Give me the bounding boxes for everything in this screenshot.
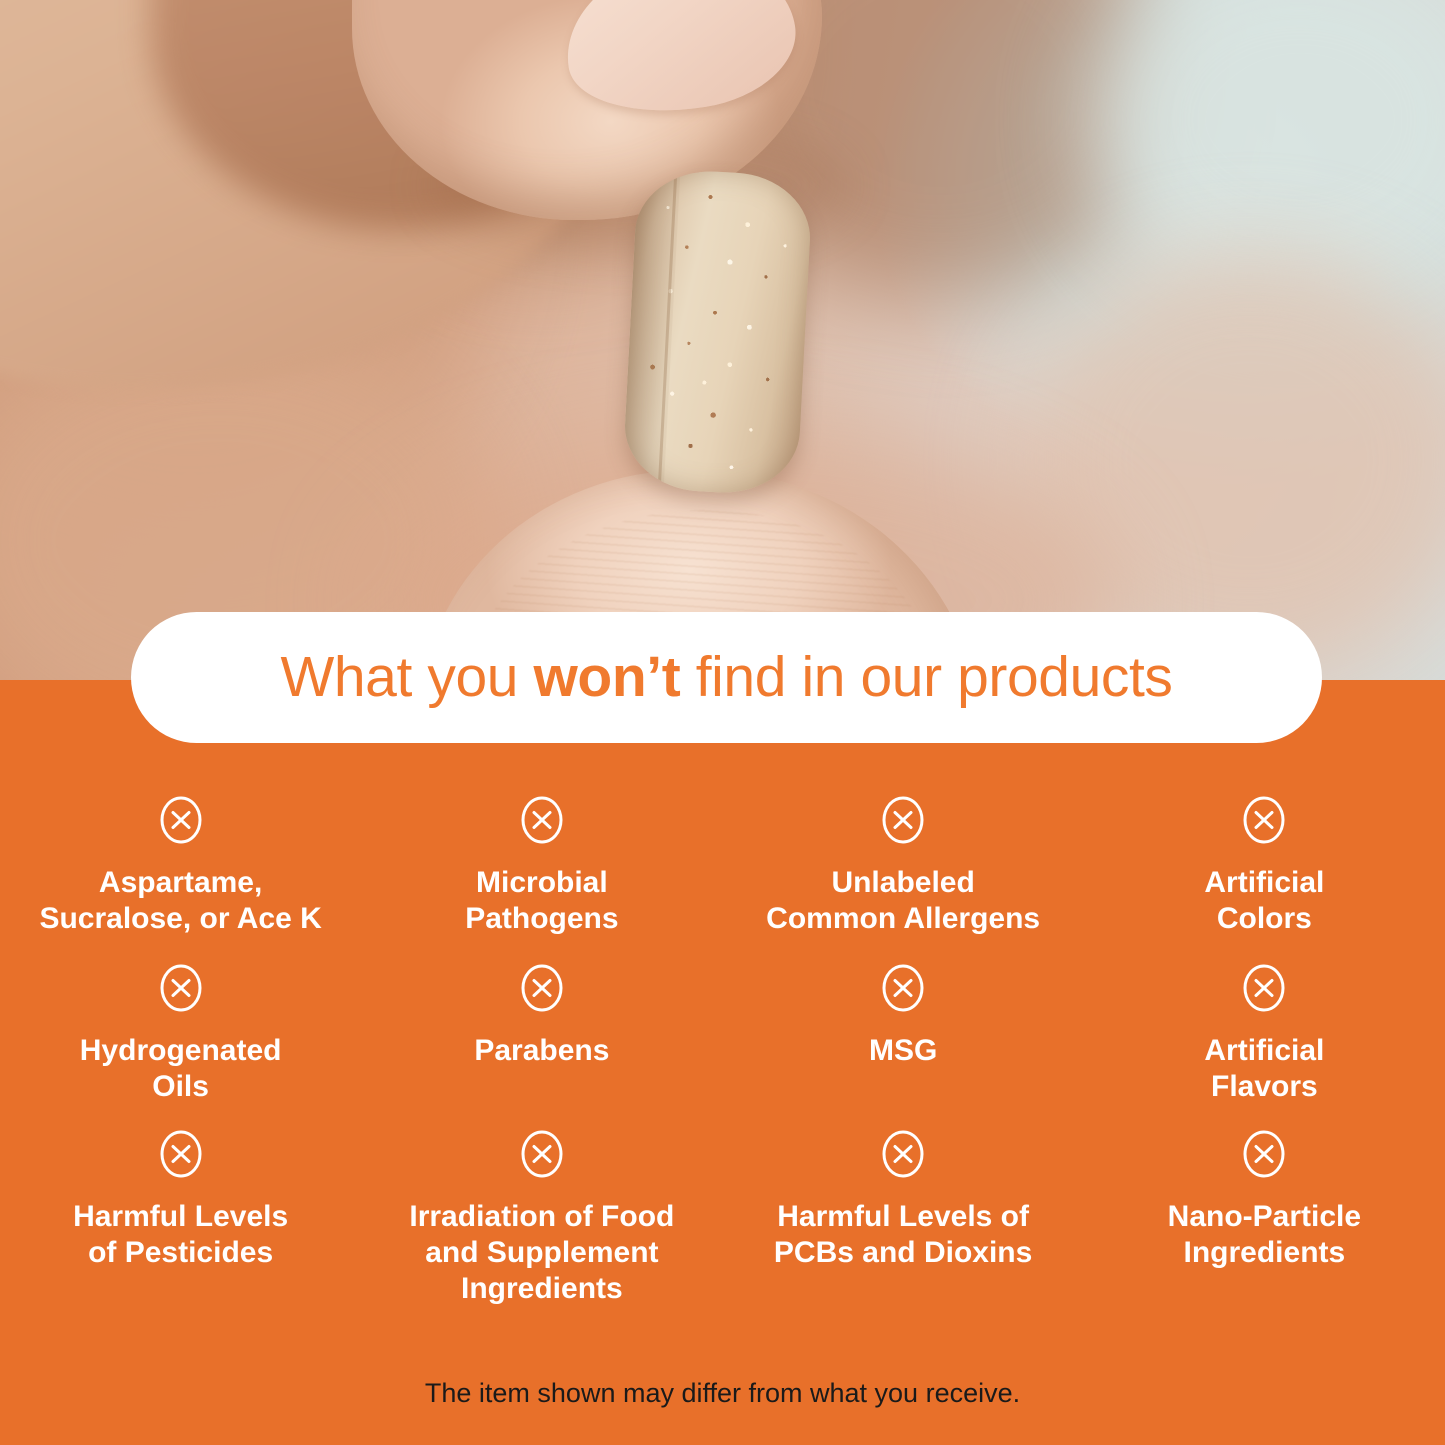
x-circle-icon — [880, 963, 926, 1013]
headline-emphasis: won’t — [534, 645, 681, 709]
x-circle-icon — [158, 963, 204, 1013]
product-infographic: What you won’t find in our products Aspa… — [0, 0, 1445, 1445]
items-row-3: Harmful Levels of PesticidesIrradiation … — [0, 1129, 1445, 1304]
x-circle-icon — [519, 963, 565, 1013]
items-row-1: Aspartame, Sucralose, or Ace KMicrobial … — [0, 795, 1445, 963]
excluded-item: Hydrogenated Oils — [0, 963, 361, 1129]
page-title: What you won’t find in our products — [280, 649, 1172, 706]
excluded-item: Nano-Particle Ingredients — [1084, 1129, 1445, 1304]
x-circle-icon — [158, 1129, 204, 1179]
x-circle-icon — [1241, 795, 1287, 845]
excluded-item-label: Harmful Levels of PCBs and Dioxins — [774, 1199, 1032, 1271]
x-circle-icon — [1241, 963, 1287, 1013]
excluded-item-label: Nano-Particle Ingredients — [1168, 1199, 1361, 1271]
excluded-item-label: Aspartame, Sucralose, or Ace K — [39, 865, 321, 937]
x-circle-icon — [519, 1129, 565, 1179]
headline-before: What you — [280, 645, 533, 709]
excluded-item: Artificial Flavors — [1084, 963, 1445, 1129]
x-circle-icon — [519, 795, 565, 845]
excluded-item: Artificial Colors — [1084, 795, 1445, 963]
disclaimer-text: The item shown may differ from what you … — [0, 1378, 1445, 1409]
excluded-item-label: Unlabeled Common Allergens — [766, 865, 1040, 937]
excluded-item-label: Harmful Levels of Pesticides — [73, 1199, 288, 1271]
excluded-item: Harmful Levels of Pesticides — [0, 1129, 361, 1304]
excluded-item-label: Parabens — [474, 1033, 609, 1069]
excluded-item-label: Artificial Flavors — [1204, 1033, 1324, 1105]
excluded-item-label: Microbial Pathogens — [465, 865, 618, 937]
excluded-item: MSG — [723, 963, 1084, 1129]
excluded-ingredients-grid: Aspartame, Sucralose, or Ace KMicrobial … — [0, 795, 1445, 1304]
excluded-item: Irradiation of Food and Supplement Ingre… — [361, 1129, 722, 1304]
product-photo — [0, 0, 1445, 690]
x-circle-icon — [158, 795, 204, 845]
x-circle-icon — [880, 795, 926, 845]
headline-after: find in our products — [680, 645, 1172, 709]
excluded-item: Unlabeled Common Allergens — [723, 795, 1084, 963]
x-circle-icon — [1241, 1129, 1287, 1179]
excluded-item: Aspartame, Sucralose, or Ace K — [0, 795, 361, 963]
x-circle-icon — [880, 1129, 926, 1179]
excluded-item-label: MSG — [869, 1033, 937, 1069]
excluded-item-label: Irradiation of Food and Supplement Ingre… — [409, 1199, 674, 1307]
excluded-item: Parabens — [361, 963, 722, 1129]
headline-banner: What you won’t find in our products — [131, 612, 1322, 743]
items-row-2: Hydrogenated OilsParabensMSGArtificial F… — [0, 963, 1445, 1129]
excluded-item: Microbial Pathogens — [361, 795, 722, 963]
supplement-tablet — [622, 168, 814, 497]
excluded-item: Harmful Levels of PCBs and Dioxins — [723, 1129, 1084, 1304]
excluded-item-label: Hydrogenated Oils — [80, 1033, 282, 1105]
excluded-item-label: Artificial Colors — [1204, 865, 1324, 937]
